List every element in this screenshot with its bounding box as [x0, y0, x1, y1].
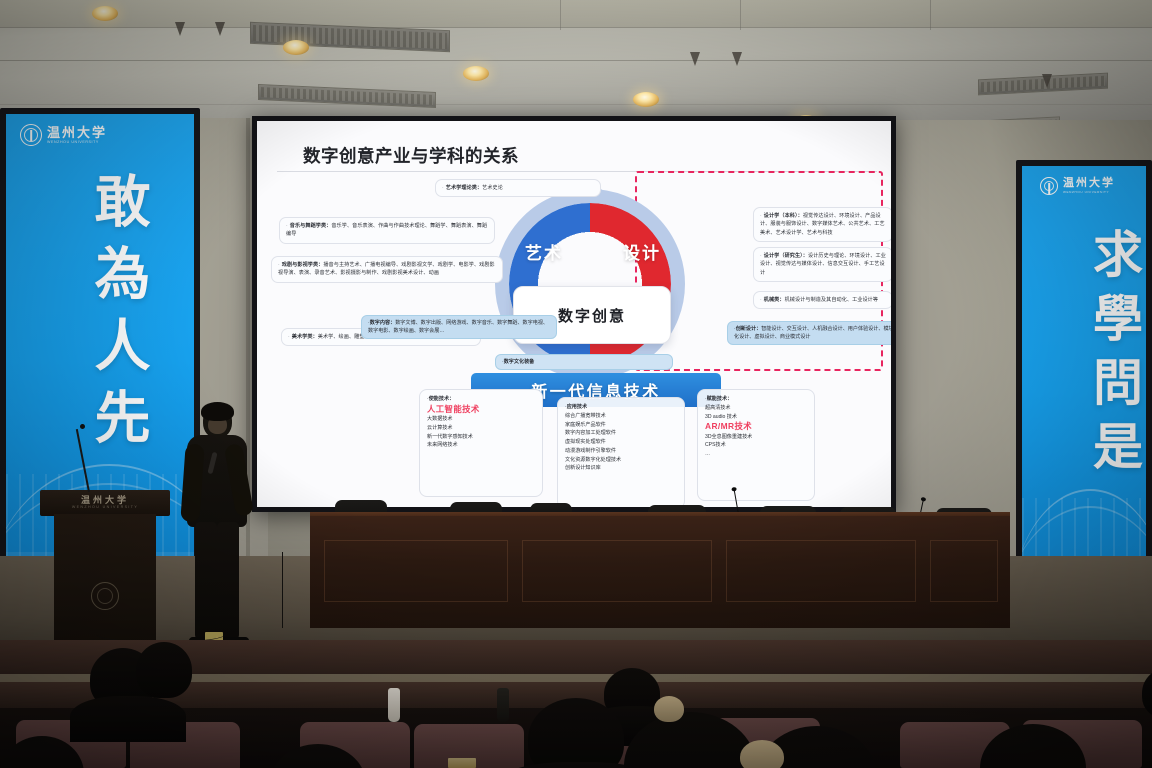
podium-university-name-en: WENZHOU UNIVERSITY — [40, 505, 170, 509]
table-panel — [726, 540, 916, 602]
left-card-music-dance: ·音乐与舞蹈学类：音乐学、音乐表演、作曲与作曲技术理论、舞蹈学、舞蹈表演、舞蹈编… — [279, 217, 495, 244]
ring-label-design: 设计 — [623, 239, 661, 264]
card-heading: 机械类： — [764, 297, 785, 303]
card-heading: 艺术学理论类： — [446, 185, 482, 191]
presenter-hair — [201, 402, 234, 421]
audience-beige-hat — [654, 696, 684, 722]
tech-box-empowering: ·赋能技术： 超高清技术 3D audio 技术 AR/MR技术 3D全息图像重… — [697, 389, 815, 501]
presentation-slide: 数字创意产业与学科的关系 艺术 — [257, 121, 891, 507]
right-banner-university-name-en: WENZHOU UNIVERSITY — [1063, 191, 1115, 194]
tech-box-enabling: ·使能技术： 人工智能技术 大数据技术 云计算技术 新一代数字感知技术 未来网络… — [419, 389, 543, 497]
band-body: 数字文博、数字出版、网络游戏、数字音乐、数字舞蹈、数字电视、数字电影、数字绘画、… — [368, 320, 548, 334]
presenter-left-leg — [195, 522, 217, 640]
tech-item: CPS技术 — [705, 441, 807, 450]
right-card-mechanical: ·机械类：机械设计与制造及其自动化、工业设计等 — [753, 291, 891, 309]
ceiling-light — [633, 92, 659, 107]
right-card-design-graduate: ·设计学（研究生）：设计历史与理论、环境设计、工业设计、视觉传达与媒体设计、信息… — [753, 247, 891, 282]
head-table — [310, 516, 1010, 628]
tech-item: 3D audio 技术 — [705, 413, 807, 422]
tech-item: 数字内容加工处理软件 — [565, 429, 677, 438]
card-heading: 美术学类： — [292, 334, 318, 340]
right-banner-logo: 温州大学 WENZHOU UNIVERSITY — [1040, 177, 1115, 195]
right-banner-university-name: 温州大学 — [1063, 178, 1115, 189]
audience-bottle — [388, 688, 400, 722]
art-design-ring-diagram — [495, 189, 685, 379]
ceiling-band — [0, 0, 1152, 28]
table-panel — [324, 540, 508, 602]
ceiling-speaker-icon — [1042, 74, 1052, 88]
tech-item: 新一代数字感知技术 — [427, 433, 535, 442]
band-heading: 数字内容： — [370, 320, 395, 326]
tech-item: 3D全息图像重建技术 — [705, 433, 807, 442]
right-banner-screen: 温州大学 WENZHOU UNIVERSITY 求學問是 — [1022, 166, 1146, 614]
left-banner-university-name: 温州大学 — [47, 126, 107, 139]
core-concept-label: 数字创意 — [558, 305, 626, 326]
left-card-art-theory: ·艺术学理论类：艺术史论 — [435, 179, 601, 197]
tech-item: 家庭娱乐产品软件 — [565, 421, 677, 430]
right-card-design-undergrad: ·设计学（本科）：视觉传达设计、环境设计、产品设计、服装与服饰设计、数字媒体艺术… — [753, 207, 891, 242]
table-panel — [930, 540, 998, 602]
audience-head — [136, 642, 192, 698]
lecture-hall-photo: 温州大学 WENZHOU UNIVERSITY 敢為人先 温州大学 WENZHO… — [0, 0, 1152, 768]
bullet-icon: · — [760, 253, 762, 259]
tech-item: 大数据技术 — [427, 415, 535, 424]
band-digital-culture-equipment: ·数字文化装备 — [495, 354, 673, 370]
university-seal-icon — [20, 124, 42, 146]
tech-item: 文化资源数字化处理技术 — [565, 456, 677, 465]
table-panel — [522, 540, 712, 602]
slide-title: 数字创意产业与学科的关系 — [303, 143, 519, 168]
podium-top: 温州大学 WENZHOU UNIVERSITY — [40, 490, 170, 516]
card-heading: 设计学（本科）： — [764, 213, 803, 219]
audience-card — [448, 758, 476, 768]
projection-screen: 数字创意产业与学科的关系 艺术 — [252, 116, 896, 512]
tech-heading: 赋能技术： — [707, 396, 732, 402]
ceiling-speaker-icon — [175, 22, 185, 36]
tech-highlight: AR/MR技术 — [705, 421, 807, 432]
left-banner-calligraphy: 敢為人先 — [78, 172, 159, 460]
ceiling-seam — [740, 0, 741, 30]
tech-highlight: 人工智能技术 — [427, 404, 535, 415]
podium-microphone-head — [80, 424, 85, 429]
tech-item: 动漫游戏制作引擎软件 — [565, 447, 677, 456]
bullet-icon: · — [286, 223, 288, 229]
podium-seal-icon — [91, 582, 119, 610]
ceiling-light — [463, 66, 489, 81]
tech-item: 云计算技术 — [427, 424, 535, 433]
band-innovative-design: ·创新设计：智能设计、交互设计、人机融合设计、用户体验设计、模块化设计、虚拟设计… — [727, 321, 891, 345]
tech-item: 超高清技术 — [705, 404, 807, 413]
card-heading: 戏剧与影视学类： — [282, 262, 324, 268]
tech-box-application: ·应用技术 综合广播宽带技术 家庭娱乐产品软件 数字内容加工处理软件 虚拟现实处… — [557, 397, 685, 507]
left-card-drama-film: ·戏剧与影视学类：播音与主持艺术、广播电视编导、戏剧影视文学、戏剧学、电影学、戏… — [271, 256, 503, 283]
audience-bottle — [497, 688, 509, 722]
ceiling-light — [92, 6, 118, 21]
card-heading: 设计学（研究生）： — [764, 253, 808, 259]
tech-heading: 应用技术 — [567, 404, 587, 410]
ceiling-speaker-icon — [732, 52, 742, 66]
tech-heading: 使能技术： — [429, 396, 454, 402]
band-heading: 创新设计： — [736, 326, 761, 332]
bullet-icon: · — [760, 213, 762, 219]
presenter-right-leg — [217, 522, 239, 640]
band-digital-content: ·数字内容：数字文博、数字出版、网络游戏、数字音乐、数字舞蹈、数字电视、数字电影… — [361, 315, 557, 339]
university-seal-icon — [1040, 177, 1058, 195]
card-body: 艺术史论 — [482, 185, 503, 191]
ceiling-speaker-icon — [215, 22, 225, 36]
ceiling-seam — [930, 0, 931, 30]
audience-shoulders — [70, 696, 186, 742]
right-banner-calligraphy: 求學問是 — [1078, 228, 1146, 484]
tech-item: … — [705, 450, 807, 459]
ceiling-seam — [560, 0, 561, 30]
bullet-icon: · — [278, 262, 280, 268]
card-body: 机械设计与制造及其自动化、工业设计等 — [785, 297, 879, 303]
ceiling-seam — [0, 104, 1152, 105]
ring-label-art: 艺术 — [525, 239, 563, 264]
tech-item: 创新设计知识库 — [565, 464, 677, 473]
card-heading: 音乐与舞蹈学类： — [290, 223, 332, 229]
bullet-icon: · — [288, 334, 290, 340]
bullet-icon: · — [442, 185, 444, 191]
audience-area — [0, 640, 1152, 768]
tech-item: 虚拟现实处理软件 — [565, 438, 677, 447]
ceiling-seam — [0, 60, 1152, 61]
right-banner-frame: 温州大学 WENZHOU UNIVERSITY 求學問是 — [1016, 160, 1152, 620]
tech-item: 未来网络技术 — [427, 441, 535, 450]
audience-beige-hat — [740, 740, 784, 768]
equip-label: 数字文化装备 — [504, 359, 535, 365]
left-banner-logo: 温州大学 WENZHOU UNIVERSITY — [20, 124, 107, 146]
presenter-person — [183, 404, 251, 656]
left-banner-university-name-en: WENZHOU UNIVERSITY — [47, 141, 107, 145]
tech-item: 综合广播宽带技术 — [565, 412, 677, 421]
ceiling-light — [283, 40, 309, 55]
bullet-icon: · — [760, 297, 762, 303]
ceiling-speaker-icon — [690, 52, 700, 66]
